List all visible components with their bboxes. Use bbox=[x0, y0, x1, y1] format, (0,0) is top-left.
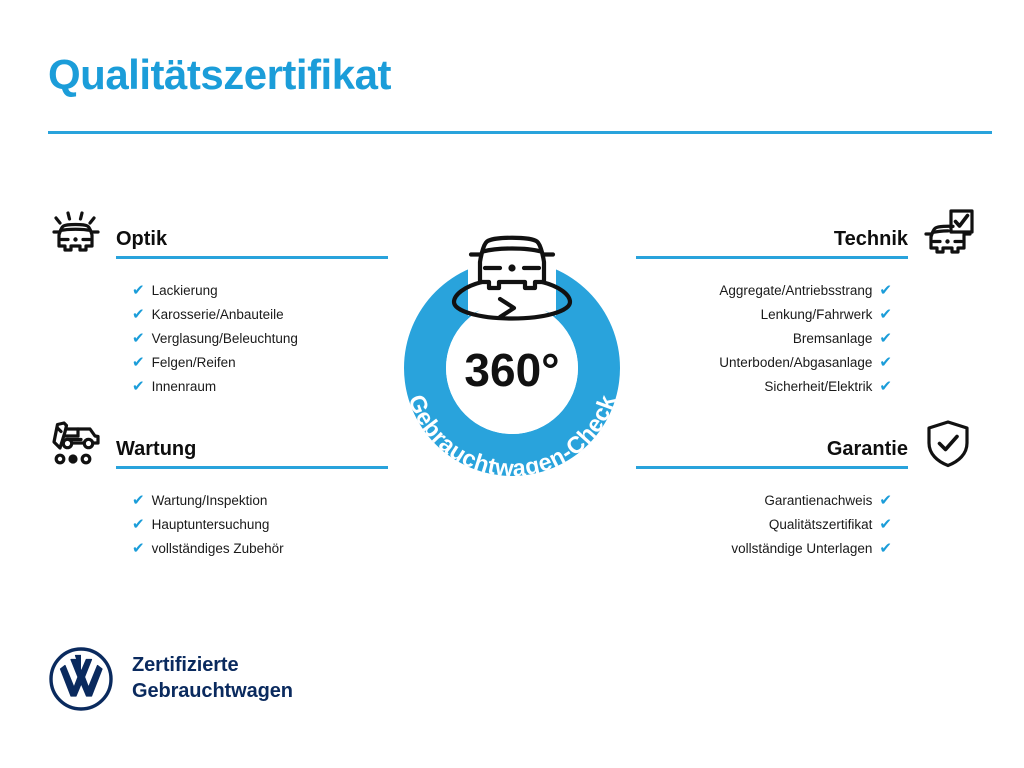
list-item-label: Bremsanlage bbox=[793, 327, 873, 351]
page-title: Qualitätszertifikat bbox=[48, 52, 391, 98]
car-checkbox-icon bbox=[920, 205, 976, 261]
list-item-label: Garantienachweis bbox=[764, 489, 872, 513]
check-icon: ✔ bbox=[879, 355, 892, 370]
check-icon: ✔ bbox=[879, 541, 892, 556]
list-item-label: Aggregate/Antriebsstrang bbox=[719, 279, 872, 303]
check-icon: ✔ bbox=[132, 331, 145, 346]
section-technik: Technik ✔ Aggregate/Antriebsstrang ✔ Len… bbox=[636, 205, 976, 399]
list-item: ✔ Wartung/Inspektion bbox=[132, 489, 388, 513]
car-service-pen-icon bbox=[48, 415, 104, 471]
check-icon: ✔ bbox=[132, 541, 145, 556]
footer-logo-text: Zertifizierte Gebrauchtwagen bbox=[132, 653, 293, 704]
check-icon: ✔ bbox=[879, 283, 892, 298]
list-item: ✔ Qualitätszertifikat bbox=[636, 513, 892, 537]
check-icon: ✔ bbox=[879, 307, 892, 322]
certificate-page: Qualitätszertifikat bbox=[0, 0, 1024, 768]
list-item-label: Wartung/Inspektion bbox=[152, 489, 268, 513]
list-item-label: Innenraum bbox=[152, 375, 217, 399]
list-item-label: Sicherheit/Elektrik bbox=[764, 375, 872, 399]
section-optik: Optik ✔ Lackierung ✔ Karosserie/Anbautei… bbox=[48, 205, 388, 399]
section-garantie: Garantie ✔ Garantienachweis ✔ Qualitätsz… bbox=[636, 415, 976, 561]
check-icon: ✔ bbox=[132, 379, 145, 394]
list-item: ✔ Lackierung bbox=[132, 279, 388, 303]
list-item-label: Verglasung/Beleuchtung bbox=[152, 327, 298, 351]
check-icon: ✔ bbox=[132, 283, 145, 298]
section-title-technik: Technik bbox=[636, 229, 908, 256]
section-header-wartung: Wartung bbox=[48, 415, 388, 471]
section-title-wartung: Wartung bbox=[116, 439, 388, 466]
list-item: ✔ Hauptuntersuchung bbox=[132, 513, 388, 537]
checklist-optik: ✔ Lackierung ✔ Karosserie/Anbauteile ✔ V… bbox=[132, 279, 388, 399]
checklist-technik: ✔ Aggregate/Antriebsstrang ✔ Lenkung/Fah… bbox=[636, 279, 892, 399]
section-header-garantie: Garantie bbox=[636, 415, 976, 471]
badge-center-text: 360° bbox=[464, 344, 559, 396]
list-item: ✔ vollständiges Zubehör bbox=[132, 537, 388, 561]
check-icon: ✔ bbox=[879, 379, 892, 394]
section-divider-technik bbox=[636, 256, 908, 259]
list-item: ✔ Felgen/Reifen bbox=[132, 351, 388, 375]
list-item-label: Lenkung/Fahrwerk bbox=[761, 303, 873, 327]
car-shine-icon bbox=[48, 205, 104, 261]
section-title-optik: Optik bbox=[116, 229, 388, 256]
list-item-label: vollständige Unterlagen bbox=[731, 537, 872, 561]
list-item: ✔ Unterboden/Abgasanlage bbox=[636, 351, 892, 375]
list-item-label: Qualitätszertifikat bbox=[769, 513, 873, 537]
list-item: ✔ Aggregate/Antriebsstrang bbox=[636, 279, 892, 303]
check-icon: ✔ bbox=[879, 517, 892, 532]
list-item-label: vollständiges Zubehör bbox=[152, 537, 284, 561]
check-icon: ✔ bbox=[132, 493, 145, 508]
footer-line-2: Gebrauchtwagen bbox=[132, 679, 293, 705]
check-icon: ✔ bbox=[132, 355, 145, 370]
badge-360-check: Gebrauchtwagen-Check 360° bbox=[372, 196, 652, 492]
footer-line-1: Zertifizierte bbox=[132, 653, 293, 679]
list-item: ✔ Lenkung/Fahrwerk bbox=[636, 303, 892, 327]
vw-logo bbox=[48, 646, 114, 712]
section-divider-wartung bbox=[116, 466, 388, 469]
list-item: ✔ Bremsanlage bbox=[636, 327, 892, 351]
section-divider-garantie bbox=[636, 466, 908, 469]
section-wartung: Wartung ✔ Wartung/Inspektion ✔ Hauptunte… bbox=[48, 415, 388, 561]
list-item-label: Unterboden/Abgasanlage bbox=[719, 351, 872, 375]
list-item: ✔ Innenraum bbox=[132, 375, 388, 399]
check-icon: ✔ bbox=[879, 331, 892, 346]
title-divider bbox=[48, 131, 992, 134]
shield-check-icon bbox=[920, 415, 976, 471]
list-item-label: Karosserie/Anbauteile bbox=[152, 303, 284, 327]
section-header-optik: Optik bbox=[48, 205, 388, 261]
list-item: ✔ Sicherheit/Elektrik bbox=[636, 375, 892, 399]
list-item-label: Lackierung bbox=[152, 279, 218, 303]
check-icon: ✔ bbox=[132, 517, 145, 532]
list-item: ✔ Verglasung/Beleuchtung bbox=[132, 327, 388, 351]
list-item: ✔ Karosserie/Anbauteile bbox=[132, 303, 388, 327]
checklist-garantie: ✔ Garantienachweis ✔ Qualitätszertifikat… bbox=[636, 489, 892, 561]
list-item-label: Hauptuntersuchung bbox=[152, 513, 270, 537]
checklist-wartung: ✔ Wartung/Inspektion ✔ Hauptuntersuchung… bbox=[132, 489, 388, 561]
list-item-label: Felgen/Reifen bbox=[152, 351, 236, 375]
list-item: ✔ Garantienachweis bbox=[636, 489, 892, 513]
check-icon: ✔ bbox=[132, 307, 145, 322]
section-header-technik: Technik bbox=[636, 205, 976, 261]
check-icon: ✔ bbox=[879, 493, 892, 508]
section-title-garantie: Garantie bbox=[636, 439, 908, 466]
footer-logo: Zertifizierte Gebrauchtwagen bbox=[48, 646, 293, 712]
section-divider-optik bbox=[116, 256, 388, 259]
list-item: ✔ vollständige Unterlagen bbox=[636, 537, 892, 561]
